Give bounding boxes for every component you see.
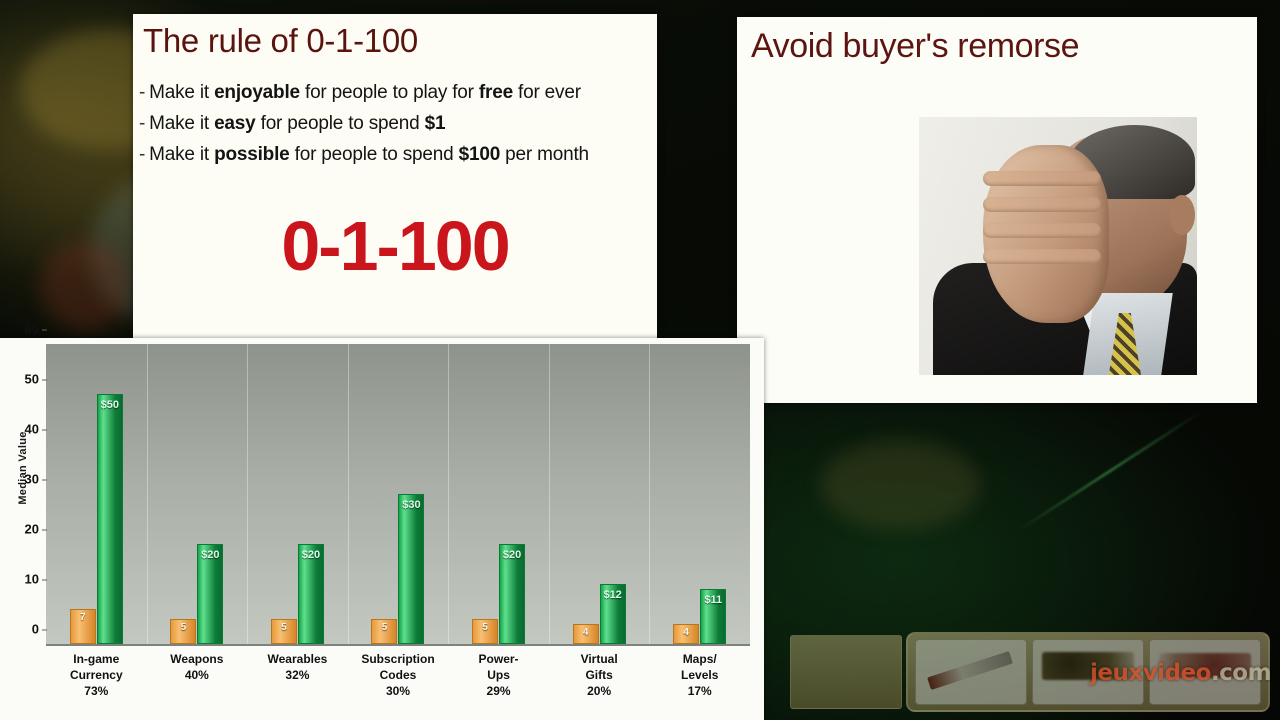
chart-bar-group: 5$20 xyxy=(147,344,248,644)
bullet-bold-easy: easy xyxy=(214,113,255,134)
photo-finger xyxy=(983,249,1101,264)
chart-x-label-line: Ups xyxy=(448,668,549,684)
chart-x-label-line: Currency xyxy=(46,668,147,684)
chart-bar-value-label: 4 xyxy=(583,627,589,638)
chart-x-label: Power-Ups29% xyxy=(448,652,549,699)
photo-ear xyxy=(1169,195,1195,235)
chart-bar-dollars: $30 xyxy=(398,494,424,644)
chart-x-label-line: 20% xyxy=(549,684,650,700)
chart-bar-transactions: 5 xyxy=(170,619,196,644)
chart-bar-dollars: $11 xyxy=(700,589,726,644)
chart-y-tick: 40 xyxy=(25,422,39,437)
chart-x-label-line: Virtual xyxy=(549,652,650,668)
bullet-text-prefix: Make it xyxy=(149,144,214,165)
chart-x-label: Wearables32% xyxy=(247,652,348,684)
chart-bar-dollars: $20 xyxy=(197,544,223,644)
chart-bar-value-label: 4 xyxy=(683,627,689,638)
chart-y-tick: 30 xyxy=(25,472,39,487)
chart-bar-transactions: 5 xyxy=(371,619,397,644)
chart-x-label: VirtualGifts20% xyxy=(549,652,650,699)
slide-rule-title: The rule of 0-1-100 xyxy=(133,14,657,60)
list-item: -Make it possible for people to spend $1… xyxy=(139,140,657,171)
bullet-text-mid: for people to spend xyxy=(256,113,425,134)
chart-bar-transactions: 5 xyxy=(271,619,297,644)
chart-bar-value-label: 5 xyxy=(382,622,388,633)
chart-bar-dollars: $12 xyxy=(600,584,626,644)
chart-bar-transactions: 4 xyxy=(573,624,599,644)
chart-bar-group: 4$11 xyxy=(649,344,750,644)
chart-x-label: Weapons40% xyxy=(147,652,248,684)
chart-bar-value-label: $30 xyxy=(402,499,420,511)
bullet-bold-hundred-dollars: $100 xyxy=(459,144,500,165)
chart-x-label-line: 17% xyxy=(649,684,750,700)
chart-bar-value-label: $20 xyxy=(503,549,521,561)
chart-x-label: SubscriptionCodes30% xyxy=(348,652,449,699)
bullet-dash: - xyxy=(139,113,145,134)
chart-bar-transactions: 4 xyxy=(673,624,699,644)
bullet-bold-enjoyable: enjoyable xyxy=(214,82,300,103)
chart-bar-value-label: $20 xyxy=(201,549,219,561)
jeuxvideo-watermark: jeuxvideo.com xyxy=(1090,660,1271,686)
bullet-bold-free: free xyxy=(479,82,513,103)
chart-bar-group: 7$50 xyxy=(46,344,147,644)
chart-x-label-line: Codes xyxy=(348,668,449,684)
chart-transactions-and-spend: Transactions & Spend by Virtual Good Med… xyxy=(0,338,764,720)
bullet-text-suffix: for ever xyxy=(513,82,581,103)
photo-finger xyxy=(983,223,1101,238)
watermark-prefix: jeuxvideo xyxy=(1090,660,1211,686)
chart-bar-value-label: 7 xyxy=(80,612,86,623)
chart-bar-value-label: $50 xyxy=(101,399,119,411)
big-number-0-1-100: 0-1-100 xyxy=(133,206,657,286)
hud-status-panel xyxy=(790,635,902,709)
chart-x-label-line: Subscription xyxy=(348,652,449,668)
chart-x-label-line: 29% xyxy=(448,684,549,700)
chart-plot-outer: 0102030405060 7$505$205$205$305$204$124$… xyxy=(46,344,750,646)
chart-y-tick-mark xyxy=(42,329,47,330)
bullet-dash: - xyxy=(139,82,145,103)
chart-x-label-line: 30% xyxy=(348,684,449,700)
bullet-bold-one-dollar: $1 xyxy=(425,113,446,134)
watermark-suffix: .com xyxy=(1211,660,1271,686)
chart-x-label: In-gameCurrency73% xyxy=(46,652,147,699)
chart-bar-value-label: 5 xyxy=(281,622,287,633)
chart-bar-group: 5$30 xyxy=(348,344,449,644)
hud-inventory-slot xyxy=(915,639,1027,705)
slide-rule-bullet-list: -Make it enjoyable for people to play fo… xyxy=(133,78,657,170)
chart-y-tick: 50 xyxy=(25,372,39,387)
chart-bar-dollars: $20 xyxy=(298,544,324,644)
chart-x-label-line: 40% xyxy=(147,668,248,684)
bullet-text-mid: for people to spend xyxy=(290,144,459,165)
slide-avoid-buyers-remorse: Avoid buyer's remorse xyxy=(737,17,1257,403)
chart-bar-transactions: 5 xyxy=(472,619,498,644)
chart-bar-group: 5$20 xyxy=(448,344,549,644)
chart-x-label-line: Power- xyxy=(448,652,549,668)
game-laser-beam xyxy=(1017,410,1203,531)
facepalm-photo xyxy=(919,117,1197,375)
chart-bar-value-label: $11 xyxy=(704,594,722,606)
photo-finger xyxy=(983,197,1101,212)
bullet-text-prefix: Make it xyxy=(149,82,214,103)
chart-bar-value-label: 5 xyxy=(181,622,187,633)
background-glow-right xyxy=(820,440,980,530)
chart-bar-dollars: $50 xyxy=(97,394,123,644)
chart-x-label: Maps/Levels17% xyxy=(649,652,750,699)
bullet-dash: - xyxy=(139,144,145,165)
bullet-text-prefix: Make it xyxy=(149,113,214,134)
chart-x-label-line: In-game xyxy=(46,652,147,668)
chart-x-label-line: Levels xyxy=(649,668,750,684)
chart-x-label-line: 32% xyxy=(247,668,348,684)
background-glow-red xyxy=(40,240,130,330)
photo-finger xyxy=(983,171,1101,186)
chart-bar-dollars: $20 xyxy=(499,544,525,644)
list-item: -Make it easy for people to spend $1 xyxy=(139,109,657,140)
chart-bar-value-label: $20 xyxy=(302,549,320,561)
bullet-bold-possible: possible xyxy=(214,144,289,165)
chart-x-label-line: Maps/ xyxy=(649,652,750,668)
slide-rule-of-0-1-100: The rule of 0-1-100 -Make it enjoyable f… xyxy=(133,14,657,340)
list-item: -Make it enjoyable for people to play fo… xyxy=(139,78,657,109)
chart-bar-group: 4$12 xyxy=(549,344,650,644)
chart-y-tick: 20 xyxy=(25,522,39,537)
chart-bar-value-label: $12 xyxy=(603,589,621,601)
chart-y-tick: 0 xyxy=(32,622,39,637)
chart-x-label-line: Wearables xyxy=(247,652,348,668)
chart-y-tick: 60 xyxy=(25,322,39,337)
bullet-text-mid: for people to play for xyxy=(300,82,479,103)
chart-x-label-line: 73% xyxy=(46,684,147,700)
bullet-text-suffix: per month xyxy=(500,144,589,165)
chart-x-label-line: Weapons xyxy=(147,652,248,668)
chart-bar-value-label: 5 xyxy=(482,622,488,633)
chart-y-tick: 10 xyxy=(25,572,39,587)
slide-remorse-title: Avoid buyer's remorse xyxy=(737,17,1257,66)
chart-x-label-line: Gifts xyxy=(549,668,650,684)
chart-bar-transactions: 7 xyxy=(70,609,96,644)
chart-plot-area: 0102030405060 7$505$205$205$305$204$124$… xyxy=(46,344,750,646)
photo-hand xyxy=(983,145,1109,323)
chart-bar-group: 5$20 xyxy=(247,344,348,644)
